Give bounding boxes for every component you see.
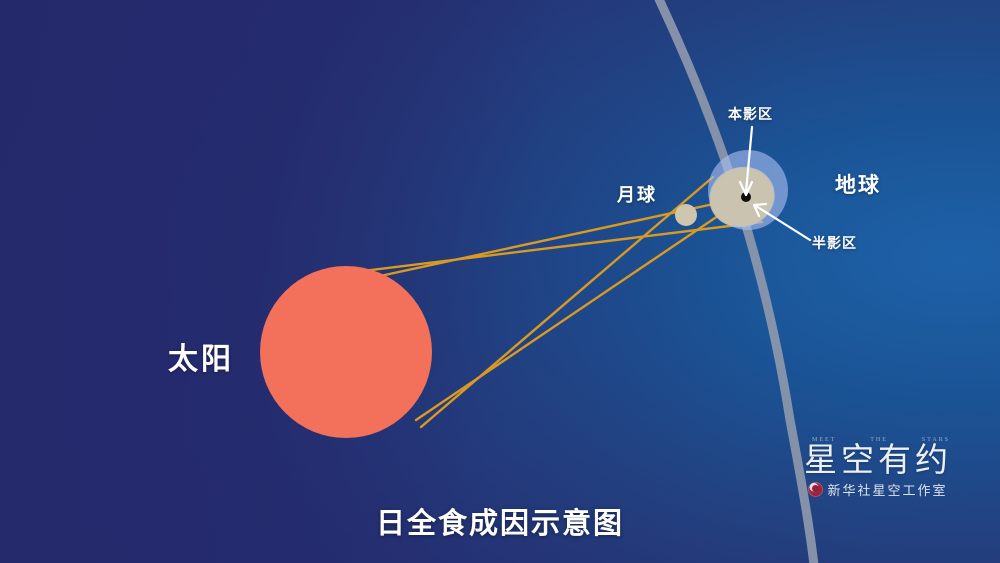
earth-orbit-arc: [640, 0, 818, 563]
sunlight-ray-upper-outer: [355, 222, 762, 272]
umbra-label: 本影区: [728, 104, 773, 124]
penumbra-label: 半影区: [812, 233, 857, 253]
moon-label: 月球: [617, 181, 657, 207]
eclipse-diagram-canvas: 太阳 月球 地球 本影区 半影区 日全食成因示意图 MEET THE STARS…: [0, 0, 1000, 563]
diagram-title: 日全食成因示意图: [0, 500, 1000, 542]
sun-label: 太阳: [168, 334, 234, 378]
sunlight-ray-lower-inner: [416, 197, 746, 420]
diagram-vector-layer: [0, 0, 1000, 563]
earth-label: 地球: [835, 169, 881, 199]
sun-body: [260, 266, 432, 438]
sunlight-ray-lower-outer: [421, 177, 713, 427]
moon-body: [675, 204, 697, 226]
